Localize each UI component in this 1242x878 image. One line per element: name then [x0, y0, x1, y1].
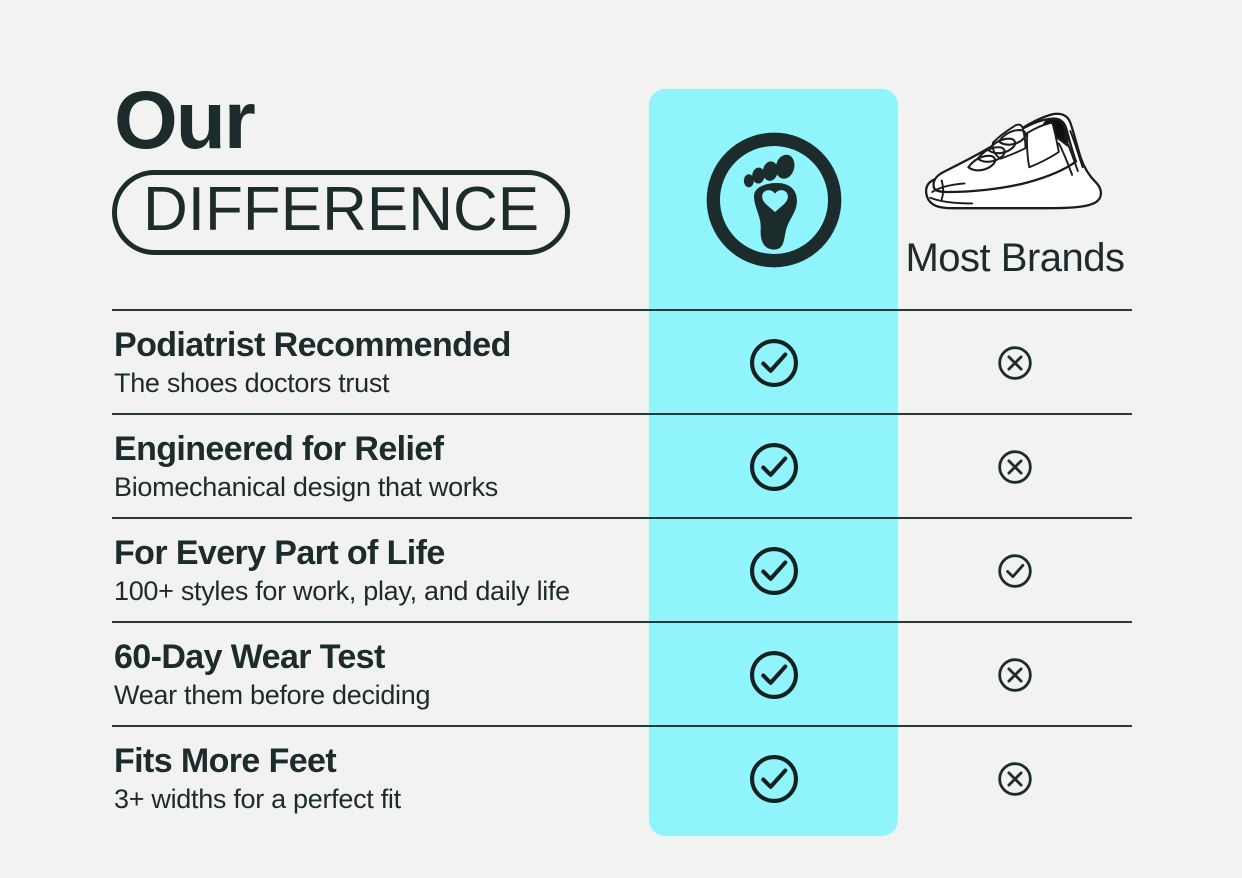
sneaker-icon	[915, 92, 1115, 232]
feature-subtitle: 3+ widths for a perfect fit	[114, 783, 634, 815]
table-row: For Every Part of Life 100+ styles for w…	[112, 517, 1132, 621]
table-header-row: Our DIFFERENCE	[112, 82, 1132, 309]
competitor-cell	[898, 623, 1132, 727]
competitor-label: Most Brands	[905, 236, 1124, 281]
circled-cross-icon	[994, 758, 1036, 800]
competitor-cell	[898, 311, 1132, 415]
circled-cross-icon	[994, 342, 1036, 384]
page-title-line1: Our	[112, 82, 642, 160]
brand-cell	[649, 727, 898, 831]
feature-title: Engineered for Relief	[114, 430, 634, 468]
feature-subtitle: Wear them before deciding	[114, 679, 634, 711]
feature-subtitle: 100+ styles for work, play, and daily li…	[114, 575, 634, 607]
feature-title: For Every Part of Life	[114, 534, 634, 572]
brand-cell	[649, 311, 898, 415]
circled-cross-icon	[994, 654, 1036, 696]
circled-check-icon	[747, 336, 801, 390]
page-title: Our DIFFERENCE	[112, 82, 642, 255]
feature-text: Podiatrist Recommended The shoes doctors…	[114, 311, 634, 415]
feature-title: Fits More Feet	[114, 742, 634, 780]
table-row: Podiatrist Recommended The shoes doctors…	[112, 309, 1132, 413]
feature-title: 60-Day Wear Test	[114, 638, 634, 676]
feature-text: Fits More Feet 3+ widths for a perfect f…	[114, 727, 634, 831]
circled-check-icon	[747, 440, 801, 494]
competitor-header-cell: Most Brands	[898, 90, 1132, 309]
circled-check-icon	[747, 752, 801, 806]
brand-header-cell	[649, 90, 898, 309]
feature-title: Podiatrist Recommended	[114, 326, 634, 364]
comparison-table: Our DIFFERENCE	[0, 0, 1242, 878]
competitor-cell	[898, 727, 1132, 831]
brand-cell	[649, 623, 898, 727]
footprint-heart-logo-icon	[700, 126, 848, 274]
brand-cell	[649, 415, 898, 519]
page-title-pill: DIFFERENCE	[112, 170, 570, 255]
circled-cross-icon	[994, 446, 1036, 488]
feature-subtitle: Biomechanical design that works	[114, 471, 634, 503]
competitor-cell	[898, 519, 1132, 623]
table-row: 60-Day Wear Test Wear them before decidi…	[112, 621, 1132, 725]
brand-cell	[649, 519, 898, 623]
circled-check-icon	[747, 544, 801, 598]
table-row: Fits More Feet 3+ widths for a perfect f…	[112, 725, 1132, 829]
table-row: Engineered for Relief Biomechanical desi…	[112, 413, 1132, 517]
circled-check-icon	[747, 648, 801, 702]
page-title-line2: DIFFERENCE	[143, 179, 539, 241]
feature-text: 60-Day Wear Test Wear them before decidi…	[114, 623, 634, 727]
feature-text: Engineered for Relief Biomechanical desi…	[114, 415, 634, 519]
circled-check-icon	[994, 550, 1036, 592]
feature-text: For Every Part of Life 100+ styles for w…	[114, 519, 634, 623]
competitor-cell	[898, 415, 1132, 519]
feature-subtitle: The shoes doctors trust	[114, 367, 634, 399]
feature-rows: Podiatrist Recommended The shoes doctors…	[112, 309, 1132, 829]
